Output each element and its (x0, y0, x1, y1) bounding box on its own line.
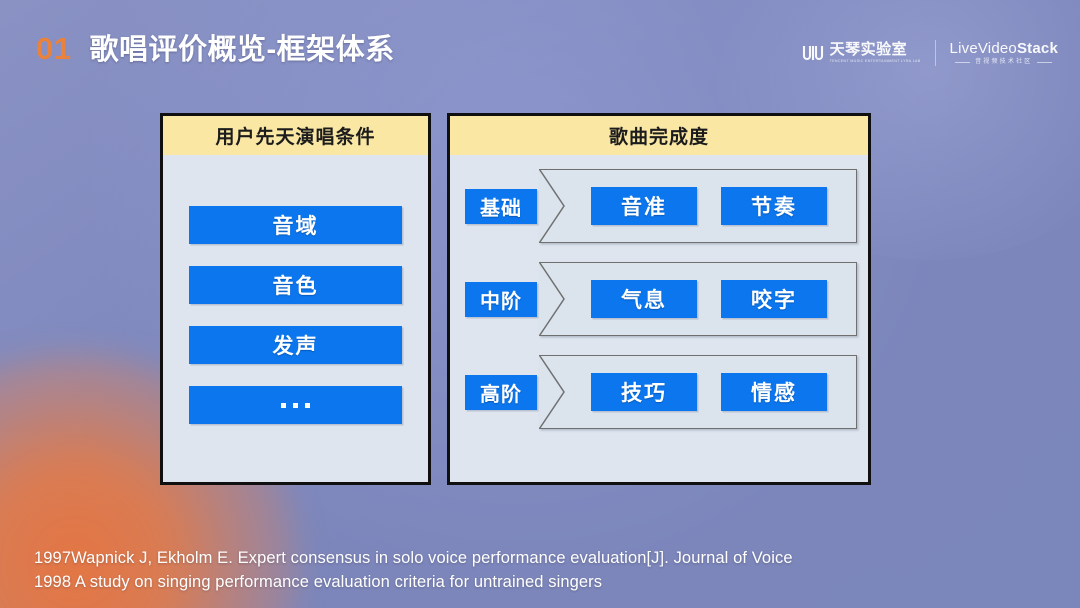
table-row: 高阶 技巧 情感 (461, 355, 857, 429)
metric-chip-label: 节奏 (751, 191, 797, 221)
livevideostack-logo: LiveVideoStack 音视频技术社区 (950, 41, 1058, 65)
panel-song-completion: 歌曲完成度 基础 音准 (447, 113, 871, 485)
panel-right-header: 歌曲完成度 (450, 116, 868, 155)
chip-label: 音色 (273, 270, 319, 300)
row-item-group: 技巧 情感 (591, 373, 827, 411)
livevideostack-wordmark: LiveVideoStack (950, 41, 1058, 56)
level-tag-label: 中阶 (480, 285, 522, 314)
slide: 01 歌唱评价概览-框架体系 天琴实验室 TENCENT MUSIC ENTER… (0, 0, 1080, 608)
chevron-notch-icon (539, 262, 565, 336)
chip-label: 音域 (273, 210, 319, 240)
reference-line-1: 1997Wapnick J, Ekholm E. Expert consensu… (34, 547, 793, 570)
metric-chip[interactable]: 音准 (591, 187, 697, 225)
lvs-prefix: LiveVide (950, 40, 1009, 57)
tianqin-lab-name-en: TENCENT MUSIC ENTERTAINMENT LYRA LAB (830, 60, 921, 64)
panel-left-header: 用户先天演唱条件 (163, 116, 428, 155)
metric-chip[interactable]: 咬字 (721, 280, 827, 318)
lvs-o: o (1008, 40, 1017, 57)
tianqin-lab-logo-icon (802, 43, 824, 63)
innate-condition-list: 音域 音色 发声 (163, 155, 428, 424)
tianqin-lab-logo-text: 天琴实验室 TENCENT MUSIC ENTERTAINMENT LYRA L… (830, 42, 921, 63)
livevideostack-tagline: 音视频技术社区 (955, 59, 1052, 65)
panel-left-title: 用户先天演唱条件 (215, 122, 375, 149)
chip-label: 发声 (273, 330, 319, 360)
metric-chip-label: 咬字 (751, 284, 797, 314)
reference-line-2: 1998 A study on singing performance eval… (34, 571, 793, 594)
logo-divider (935, 40, 936, 66)
level-tag-label: 高阶 (480, 378, 522, 407)
livevideostack-tagline-text: 音视频技术社区 (975, 59, 1032, 65)
metric-chip-label: 音准 (621, 191, 667, 221)
completion-level-rows: 基础 音准 节奏 (450, 155, 868, 429)
metric-chip[interactable]: 技巧 (591, 373, 697, 411)
panel-left-body: 音域 音色 发声 (163, 155, 428, 482)
tianqin-lab-logo: 天琴实验室 TENCENT MUSIC ENTERTAINMENT LYRA L… (802, 42, 921, 63)
metric-chip-label: 情感 (751, 377, 797, 407)
row-item-group: 气息 咬字 (591, 280, 827, 318)
logo-group: 天琴实验室 TENCENT MUSIC ENTERTAINMENT LYRA L… (802, 40, 1058, 66)
page-title: 歌唱评价概览-框架体系 (89, 26, 394, 68)
tianqin-lab-name-cn: 天琴实验室 (830, 42, 921, 57)
chevron-notch-icon (539, 169, 565, 243)
chevron-notch-icon (539, 355, 565, 429)
metric-chip-label: 技巧 (621, 377, 667, 407)
ellipsis-icon (281, 403, 310, 408)
table-row: 中阶 气息 咬字 (461, 262, 857, 336)
metric-chip[interactable]: 情感 (721, 373, 827, 411)
list-item[interactable]: 音色 (189, 266, 402, 304)
section-number: 01 (36, 31, 71, 67)
lvs-suffix: Stack (1017, 40, 1058, 57)
list-item[interactable]: 音域 (189, 206, 402, 244)
panel-right-body: 基础 音准 节奏 (450, 155, 868, 482)
list-item[interactable]: 发声 (189, 326, 402, 364)
reference-footer: 1997Wapnick J, Ekholm E. Expert consensu… (34, 547, 793, 594)
metric-chip[interactable]: 气息 (591, 280, 697, 318)
level-tag[interactable]: 中阶 (465, 282, 537, 317)
level-tag[interactable]: 高阶 (465, 375, 537, 410)
row-item-group: 音准 节奏 (591, 187, 827, 225)
level-tag[interactable]: 基础 (465, 189, 537, 224)
panel-innate-singing-conditions: 用户先天演唱条件 音域 音色 发声 (160, 113, 431, 485)
tagline-rule-right (1037, 62, 1052, 63)
list-item-more[interactable] (189, 386, 402, 424)
metric-chip[interactable]: 节奏 (721, 187, 827, 225)
table-row: 基础 音准 节奏 (461, 169, 857, 243)
slide-header: 01 歌唱评价概览-框架体系 (36, 26, 395, 68)
tagline-rule-left (955, 62, 970, 63)
level-tag-label: 基础 (480, 192, 522, 221)
panel-right-title: 歌曲完成度 (609, 122, 709, 149)
metric-chip-label: 气息 (621, 284, 667, 314)
